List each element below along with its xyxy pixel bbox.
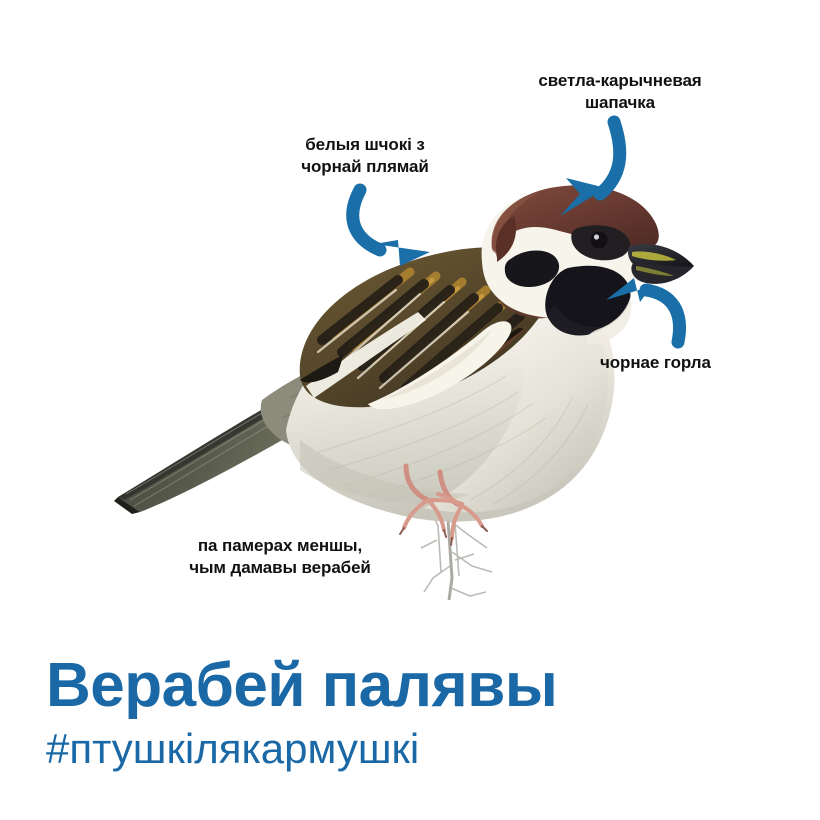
label-white-cheeks-black-spot: белыя шчокі з чорнай плямай — [255, 134, 475, 178]
label-black-throat: чорнае горла — [600, 352, 760, 374]
label-light-brown-cap: светла-карычневая шапачка — [500, 70, 740, 114]
page-title: Верабей палявы — [46, 655, 557, 717]
infographic-canvas: светла-карычневая шапачка белыя шчокі з … — [0, 0, 820, 820]
label-smaller-than-house-sparrow: па памерах меншы, чым дамавы верабей — [145, 535, 415, 579]
campaign-hashtag: #птушкілякармушкі — [46, 728, 419, 770]
